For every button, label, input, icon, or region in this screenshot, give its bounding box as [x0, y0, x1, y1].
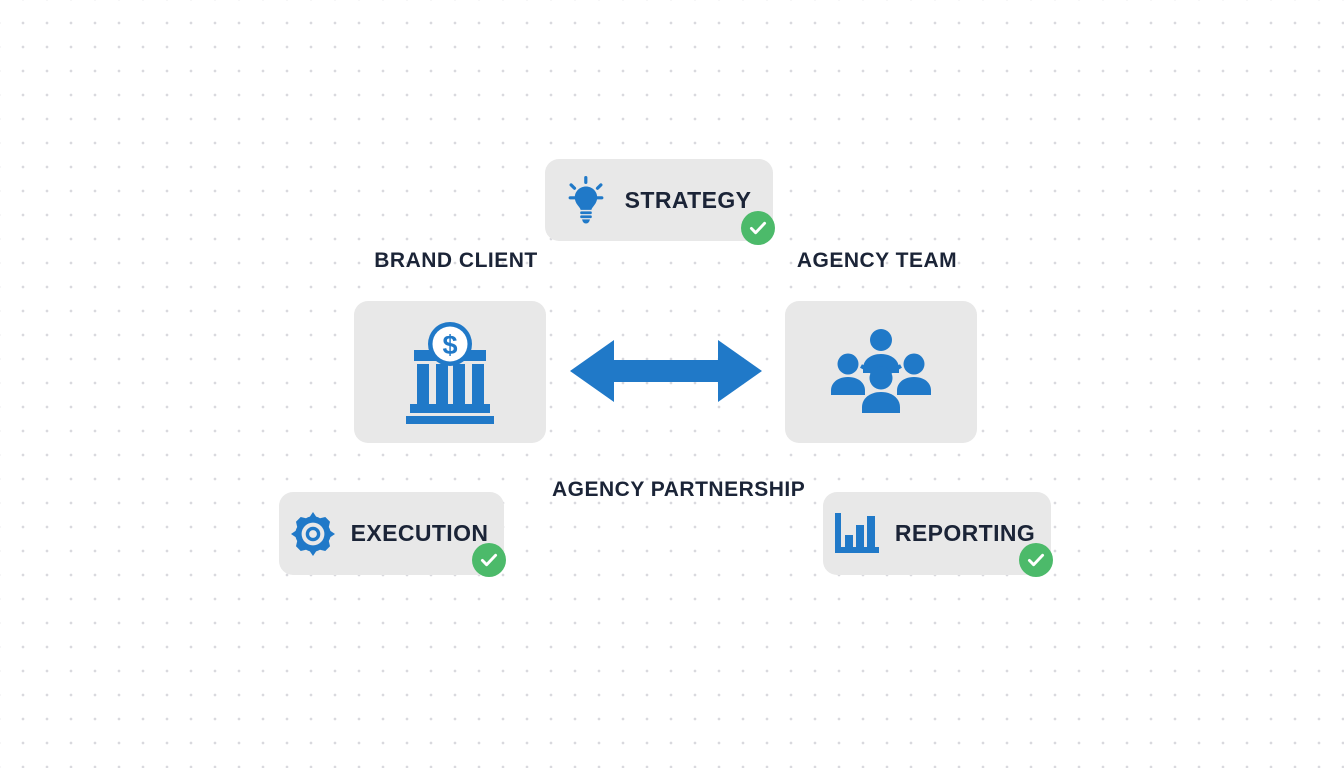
capability-card-strategy[interactable]: STRATEGY — [545, 159, 773, 241]
capability-card-reporting[interactable]: REPORTING — [823, 492, 1051, 575]
diagram-canvas: STRATEGY BRAND CLIENT — [0, 0, 1344, 768]
status-badge-execution — [472, 543, 506, 577]
capability-card-execution[interactable]: EXECUTION — [279, 492, 504, 575]
double-arrow-horizontal-icon — [570, 336, 762, 406]
check-circle-icon — [1026, 550, 1046, 570]
status-badge-reporting — [1019, 543, 1053, 577]
svg-text:$: $ — [442, 330, 457, 360]
check-circle-icon — [748, 218, 768, 238]
lightbulb-icon — [563, 176, 609, 224]
team-group-icon — [831, 329, 931, 415]
bar-chart-icon — [835, 513, 879, 555]
pillar-label-brand-client: BRAND CLIENT — [354, 249, 558, 273]
status-badge-strategy — [741, 211, 775, 245]
diagram-center-label: AGENCY PARTNERSHIP — [552, 478, 792, 502]
capability-label-reporting: REPORTING — [895, 520, 1035, 547]
gear-icon — [291, 512, 335, 556]
pillar-card-brand-client[interactable]: $ — [354, 301, 546, 443]
check-circle-icon — [479, 550, 499, 570]
bank-dollar-icon: $ — [402, 320, 498, 424]
capability-label-strategy: STRATEGY — [625, 187, 752, 214]
capability-label-execution: EXECUTION — [351, 520, 489, 547]
pillar-card-agency-team[interactable] — [785, 301, 977, 443]
pillar-label-agency-team: AGENCY TEAM — [775, 249, 979, 273]
